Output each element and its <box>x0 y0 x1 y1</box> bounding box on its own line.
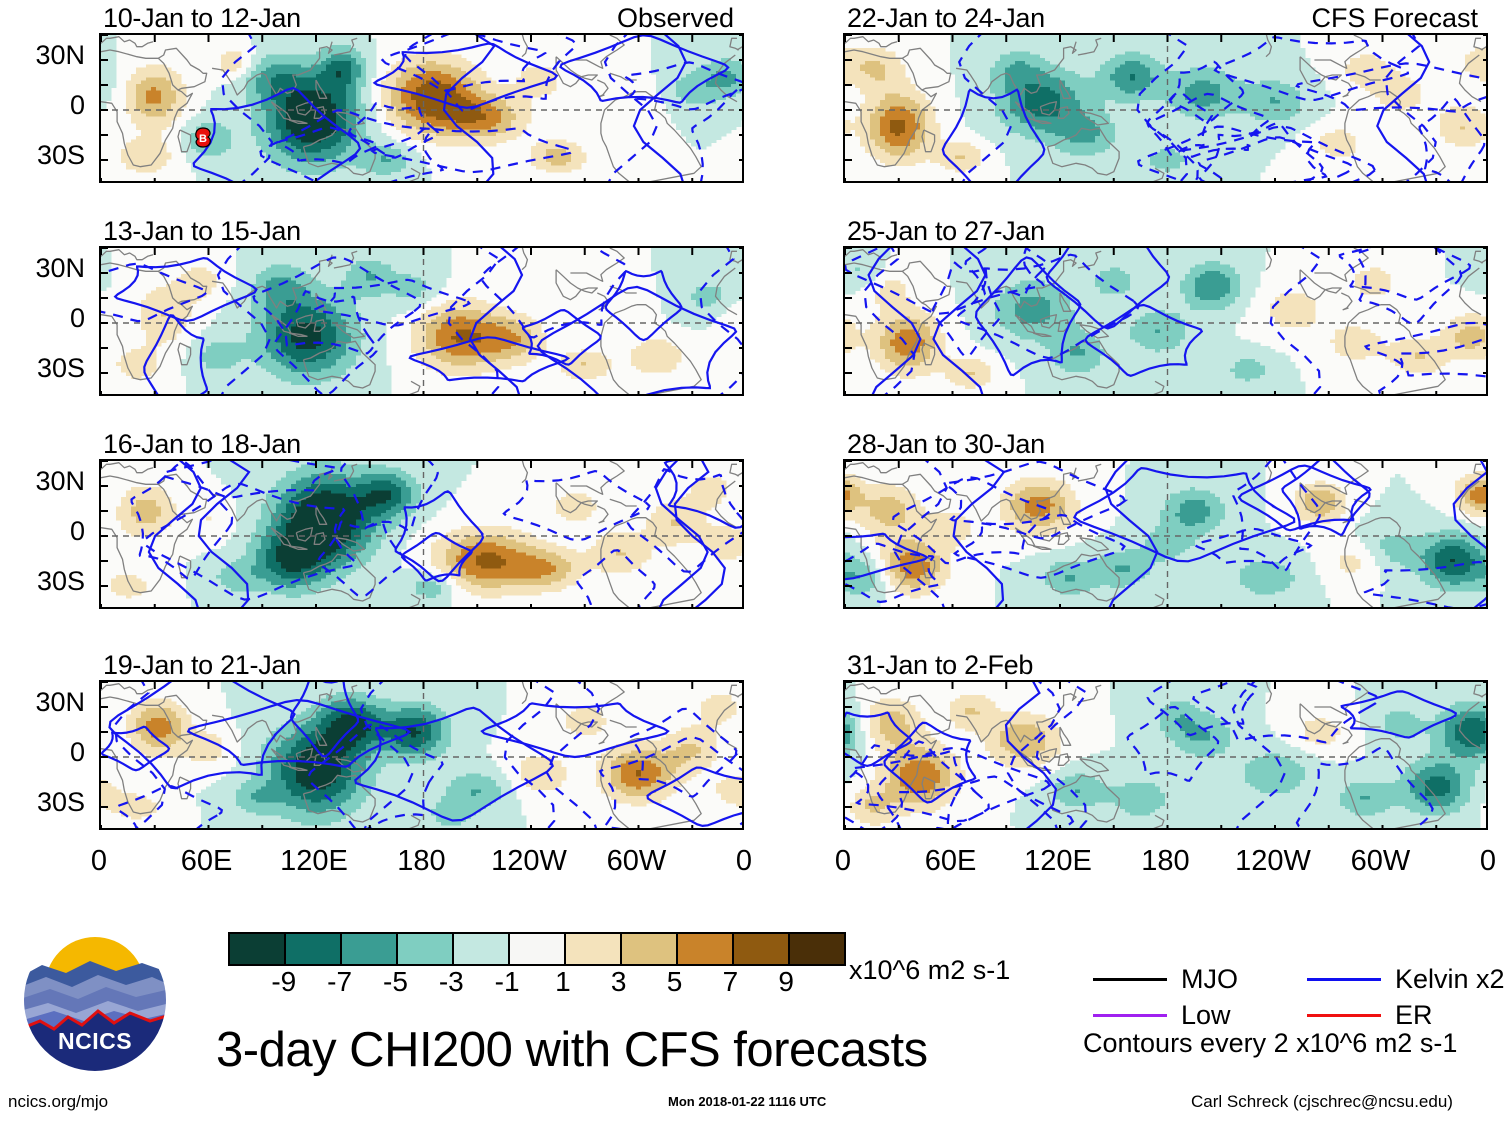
right-x-tick-2: 120E <box>1008 845 1108 878</box>
footer-site-link[interactable]: ncics.org/mjo <box>8 1092 108 1112</box>
colorbar-segment-3 <box>398 934 454 964</box>
legend-label-low: Low <box>1181 1000 1231 1031</box>
colorbar-tick-7: 5 <box>645 966 705 998</box>
y-tick-p4-1: 0 <box>0 737 85 768</box>
panel-title-p1: 10-Jan to 12-Jan <box>103 3 301 34</box>
colorbar-segment-10 <box>790 934 844 964</box>
legend-label-kelvin-x2: Kelvin x2 <box>1395 964 1505 995</box>
map-area-p1: B <box>99 33 744 183</box>
y-tick-p1-1: 0 <box>0 90 85 121</box>
panel-title-p4: 19-Jan to 21-Jan <box>103 650 301 681</box>
footer-timestamp: Mon 2018-01-22 1116 UTC <box>668 1094 826 1109</box>
right-x-tick-3: 180 <box>1116 845 1216 878</box>
ncics-logo: NCICS <box>20 925 170 1075</box>
colorbar <box>228 932 846 966</box>
legend-label-mjo: MJO <box>1181 964 1238 995</box>
map-area-p6 <box>843 246 1488 396</box>
colorbar-tick-2: -5 <box>365 966 425 998</box>
chart-main-title: 3-day CHI200 with CFS forecasts <box>216 1022 928 1078</box>
left-x-tick-6: 0 <box>694 845 794 878</box>
colorbar-tick-4: -1 <box>477 966 537 998</box>
legend-line-low <box>1093 1014 1167 1017</box>
right-x-tick-1: 60E <box>901 845 1001 878</box>
panel-title-p8: 31-Jan to 2-Feb <box>847 650 1033 681</box>
colorbar-tick-5: 1 <box>533 966 593 998</box>
y-tick-p2-0: 30N <box>0 253 85 284</box>
footer-author: Carl Schreck (cjschrec@ncsu.edu) <box>1191 1092 1453 1112</box>
right-x-tick-4: 120W <box>1223 845 1323 878</box>
y-tick-p4-2: 30S <box>0 787 85 818</box>
left-x-tick-3: 180 <box>372 845 472 878</box>
colorbar-segment-0 <box>230 934 286 964</box>
colorbar-segment-2 <box>342 934 398 964</box>
panel-title-p5: 22-Jan to 24-Jan <box>847 3 1045 34</box>
logo-label: NCICS <box>20 1028 170 1055</box>
y-tick-p1-2: 30S <box>0 140 85 171</box>
panel-corner-label-p1: Observed <box>617 3 734 34</box>
colorbar-tick-3: -3 <box>421 966 481 998</box>
y-tick-p2-1: 0 <box>0 303 85 334</box>
colorbar-segment-6 <box>566 934 622 964</box>
legend-line-mjo <box>1093 978 1167 981</box>
colorbar-segment-8 <box>678 934 734 964</box>
legend-line-kelvin-x2 <box>1307 978 1381 981</box>
left-x-tick-5: 60W <box>587 845 687 878</box>
panel-title-p3: 16-Jan to 18-Jan <box>103 429 301 460</box>
map-area-p5 <box>843 33 1488 183</box>
panel-corner-label-p5: CFS Forecast <box>1311 3 1478 34</box>
colorbar-segment-9 <box>734 934 790 964</box>
panel-title-p6: 25-Jan to 27-Jan <box>847 216 1045 247</box>
left-x-tick-1: 60E <box>157 845 257 878</box>
right-x-tick-6: 0 <box>1438 845 1510 878</box>
y-tick-p3-1: 0 <box>0 516 85 547</box>
map-area-p4 <box>99 680 744 830</box>
map-area-p2 <box>99 246 744 396</box>
colorbar-tick-6: 3 <box>589 966 649 998</box>
colorbar-segment-7 <box>622 934 678 964</box>
y-tick-p3-2: 30S <box>0 566 85 597</box>
legend-line-er <box>1307 1014 1381 1017</box>
y-tick-p4-0: 30N <box>0 687 85 718</box>
colorbar-unit-label: x10^6 m2 s-1 <box>849 955 1010 986</box>
colorbar-segment-1 <box>286 934 342 964</box>
panel-title-p2: 13-Jan to 15-Jan <box>103 216 301 247</box>
right-x-tick-5: 60W <box>1331 845 1431 878</box>
right-x-tick-0: 0 <box>793 845 893 878</box>
colorbar-tick-9: 9 <box>756 966 816 998</box>
map-area-p8 <box>843 680 1488 830</box>
colorbar-segment-5 <box>510 934 566 964</box>
y-tick-p1-0: 30N <box>0 40 85 71</box>
contour-interval-note: Contours every 2 x10^6 m2 s-1 <box>1083 1028 1457 1059</box>
map-area-p3 <box>99 459 744 609</box>
left-x-tick-2: 120E <box>264 845 364 878</box>
left-x-tick-0: 0 <box>49 845 149 878</box>
colorbar-segment-4 <box>454 934 510 964</box>
colorbar-tick-8: 7 <box>700 966 760 998</box>
map-area-p7 <box>843 459 1488 609</box>
panel-title-p7: 28-Jan to 30-Jan <box>847 429 1045 460</box>
y-tick-p3-0: 30N <box>0 466 85 497</box>
legend-label-er: ER <box>1395 1000 1433 1031</box>
colorbar-tick-0: -9 <box>254 966 314 998</box>
y-tick-p2-2: 30S <box>0 353 85 384</box>
left-x-tick-4: 120W <box>479 845 579 878</box>
colorbar-tick-1: -7 <box>310 966 370 998</box>
